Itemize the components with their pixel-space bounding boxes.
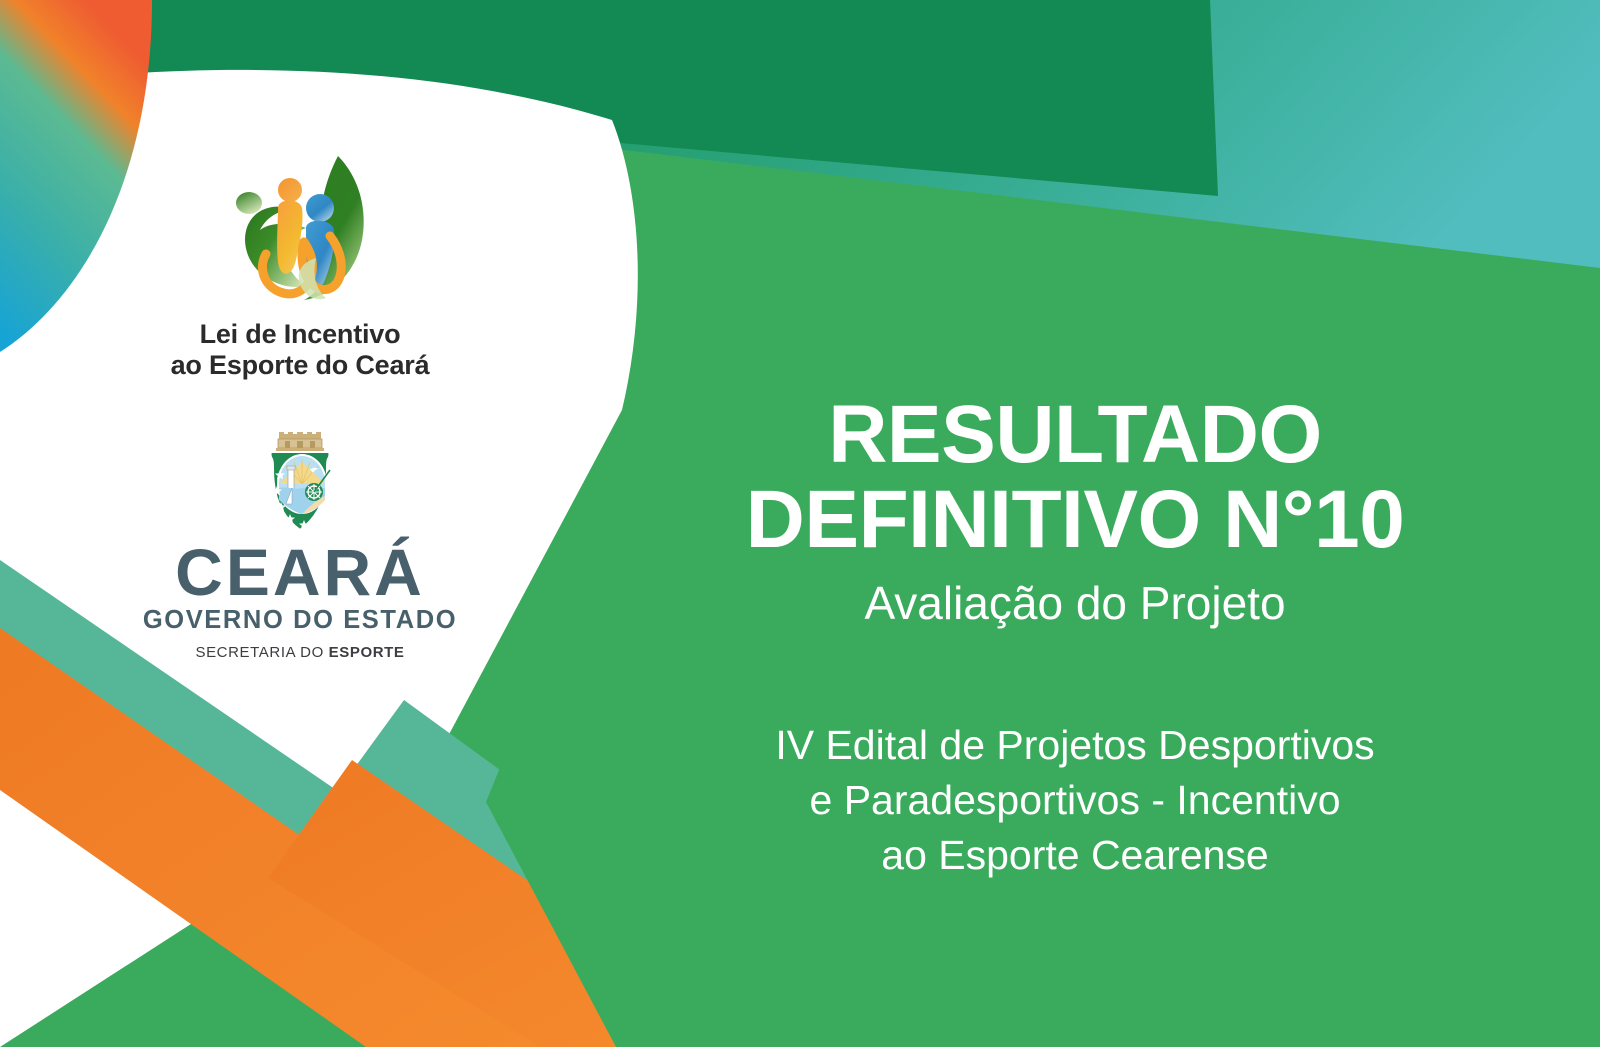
page-title: RESULTADO DEFINITIVO N°10	[620, 392, 1530, 563]
governo-do-estado-label: GOVERNO DO ESTADO	[0, 606, 600, 635]
poster-canvas: Lei de Incentivo ao Esporte do Ceará	[0, 0, 1600, 1047]
governo-do-ceara-block: CEARÁ GOVERNO DO ESTADO SECRETARIA DO ES…	[0, 426, 600, 662]
brasao-do-ceara-coat-of-arms-icon	[252, 426, 348, 538]
page-title-line2: DEFINITIVO N°10	[620, 477, 1530, 562]
edital-line3: ao Esporte Cearense	[620, 828, 1530, 883]
page-title-line1: RESULTADO	[620, 392, 1530, 477]
page-subtitle: Avaliação do Projeto	[620, 578, 1530, 629]
lei-caption-line2: ao Esporte do Ceará	[0, 350, 600, 381]
lei-caption: Lei de Incentivo ao Esporte do Ceará	[0, 319, 600, 382]
edital-line1: IV Edital de Projetos Desportivos	[620, 718, 1530, 773]
secretaria-do-esporte-label: SECRETARIA DO ESPORTE	[0, 644, 600, 661]
secretaria-strong: ESPORTE	[329, 644, 405, 661]
edital-description: IV Edital de Projetos Desportivos e Para…	[620, 718, 1530, 883]
secretaria-prefix: SECRETARIA DO	[195, 644, 328, 661]
left-brand-stack: Lei de Incentivo ao Esporte do Ceará	[0, 150, 600, 661]
edital-line2: e Paradesportivos - Incentivo	[620, 773, 1530, 828]
main-text-column: RESULTADO DEFINITIVO N°10 Avaliação do P…	[620, 0, 1530, 1047]
lei-caption-line1: Lei de Incentivo	[200, 319, 401, 349]
lei-de-incentivo-ao-esporte-logo-icon	[220, 150, 380, 305]
ceara-wordmark: CEARÁ	[0, 540, 600, 605]
